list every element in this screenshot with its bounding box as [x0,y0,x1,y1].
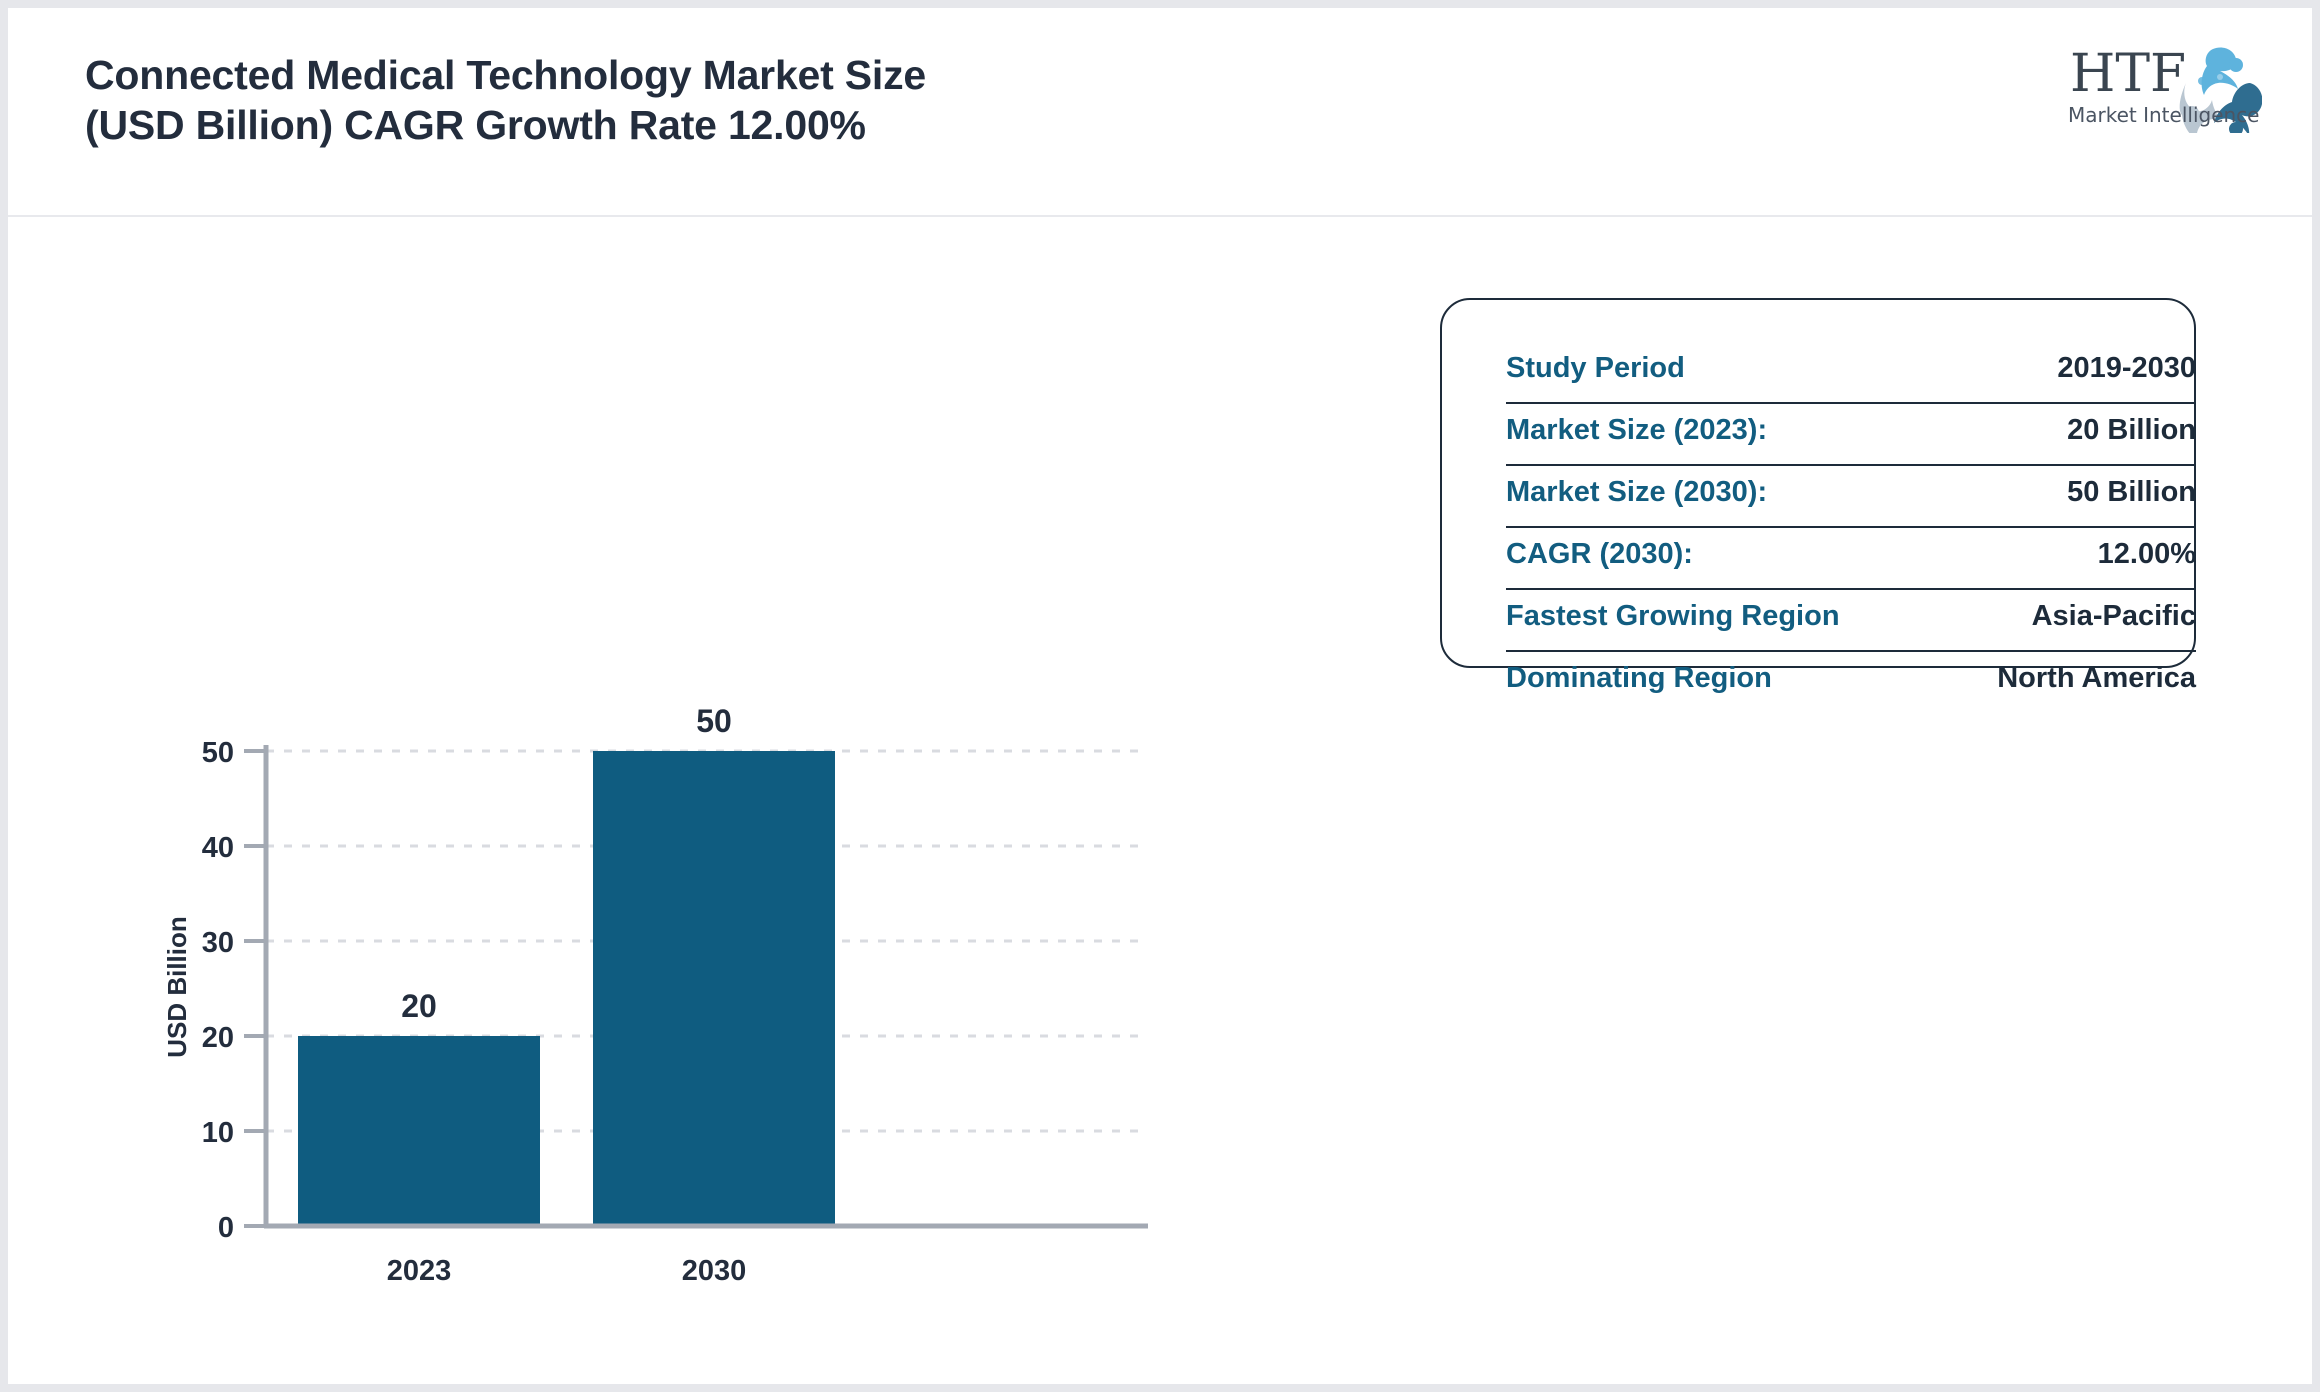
summary-row-cagr-2030: CAGR (2030): 12.00% [1506,528,2196,590]
market-summary-rows: Study Period 2019-2030 Market Size (2023… [1506,342,2196,714]
summary-label-fastest-growing-region: Fastest Growing Region [1506,600,1840,633]
page-title-line-1: Connected Medical Technology Market Size [85,50,1435,100]
ytick-label-40: 40 [202,832,234,864]
summary-value-market-size-2023: 20 Billion [2067,414,2196,447]
summary-value-study-period: 2019-2030 [2057,352,2196,385]
summary-label-study-period: Study Period [1506,352,1685,385]
logo-tagline: Market Intelligence [2068,103,2256,127]
page-title-line-2: (USD Billion) CAGR Growth Rate 12.00% [85,100,1435,150]
bar-label-2030: 50 [696,703,732,739]
summary-label-dominating-region: Dominating Region [1506,662,1772,695]
summary-row-market-size-2023: Market Size (2023): 20 Billion [1506,404,2196,466]
page-title: Connected Medical Technology Market Size… [85,50,1435,150]
summary-value-market-size-2030: 50 Billion [2067,476,2196,509]
ytick-label-50: 50 [202,737,234,769]
page-canvas: Connected Medical Technology Market Size… [8,8,2312,1384]
ytick-label-20: 20 [202,1022,234,1054]
summary-label-market-size-2030: Market Size (2030): [1506,476,1767,509]
chart-svg: 50 40 30 20 10 0 USD Billion 20 50 2023 … [8,217,1308,1384]
xtick-label-2030: 2030 [682,1255,747,1287]
xtick-label-2023: 2023 [387,1255,452,1287]
chart-x-tick-labels: 2023 2030 [387,1255,747,1287]
summary-row-fastest-growing-region: Fastest Growing Region Asia-Pacific [1506,590,2196,652]
ytick-label-10: 10 [202,1117,234,1149]
ytick-label-0: 0 [218,1212,234,1244]
summary-value-fastest-growing-region: Asia-Pacific [2032,600,2196,633]
page-header: Connected Medical Technology Market Size… [8,8,2312,217]
chart-y-tick-labels: 50 40 30 20 10 0 [202,737,234,1244]
htf-market-intelligence-logo: HTF [2062,33,2262,133]
summary-label-market-size-2023: Market Size (2023): [1506,414,1767,447]
y-axis-label: USD Billion [162,916,192,1058]
logo-wordmark-text: HTF [2070,44,2186,104]
chart-bars [298,751,835,1226]
bar-label-2023: 20 [401,988,437,1024]
summary-label-cagr-2030: CAGR (2030): [1506,538,1693,571]
bar-2023[interactable] [298,1036,540,1226]
ytick-label-30: 30 [202,927,234,959]
market-summary-card: Study Period 2019-2030 Market Size (2023… [1440,298,2196,668]
summary-value-dominating-region: North America [1997,662,2196,695]
chart-y-ticks [244,751,266,1226]
summary-row-dominating-region: Dominating Region North America [1506,652,2196,714]
summary-value-cagr-2030: 12.00% [2098,538,2196,571]
bar-2030[interactable] [593,751,835,1226]
summary-row-market-size-2030: Market Size (2030): 50 Billion [1506,466,2196,528]
summary-row-study-period: Study Period 2019-2030 [1506,342,2196,404]
market-size-bar-chart: 50 40 30 20 10 0 USD Billion 20 50 2023 … [8,217,1308,1384]
